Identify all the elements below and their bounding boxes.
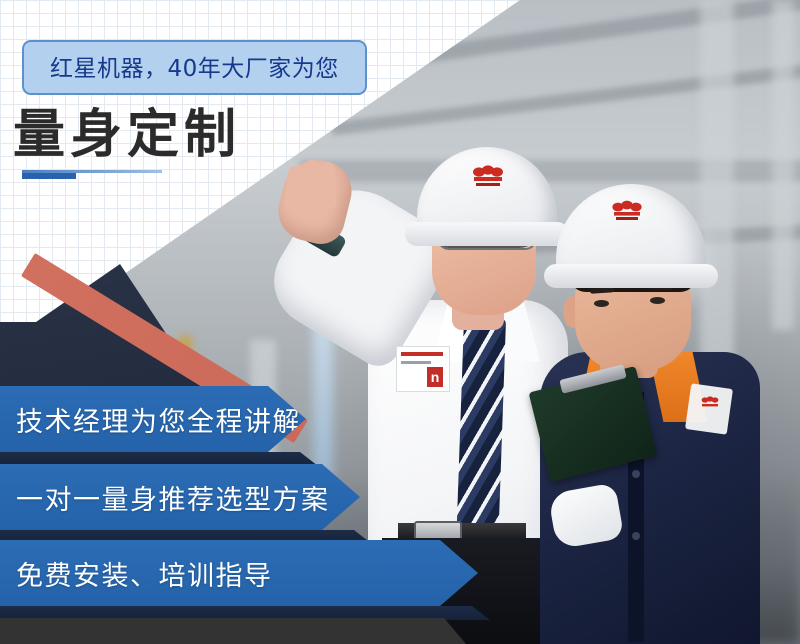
slogan-badge: 红星机器，40年大厂家为您 (22, 40, 367, 95)
shirt-button (632, 470, 640, 478)
feature-bar-1: 技术经理为您全程讲解 (0, 386, 306, 452)
structural-pillar (700, 0, 734, 360)
feature-bar-3-label: 免费安装、培训指导 (0, 554, 273, 593)
company-chest-badge: n (396, 346, 450, 392)
helmet-red-logo-icon (610, 200, 644, 223)
page-title: 量身定制 (13, 92, 241, 167)
helmet-red-logo-icon (470, 165, 506, 189)
paper-red-logo-icon (700, 396, 720, 410)
feature-bar-shadow (0, 606, 490, 620)
eye (650, 297, 665, 304)
bottom-dark-band (0, 618, 466, 644)
shirt-button (632, 532, 640, 540)
hard-hat-brim (405, 222, 569, 246)
structural-pillar (772, 0, 794, 330)
feature-bar-3: 免费安装、培训指导 (0, 540, 478, 606)
striped-necktie (456, 317, 506, 550)
feature-bar-shadow (0, 452, 318, 466)
feature-bar-2: 一对一量身推荐选型方案 (0, 464, 360, 530)
title-underline-thick (22, 173, 76, 179)
hard-hat-brim (544, 264, 718, 288)
finger (319, 162, 337, 211)
eye (594, 300, 609, 307)
feature-bar-2-label: 一对一量身推荐选型方案 (0, 478, 330, 517)
feature-bar-1-label: 技术经理为您全程讲解 (0, 400, 301, 439)
promo-banner: n (0, 0, 800, 644)
